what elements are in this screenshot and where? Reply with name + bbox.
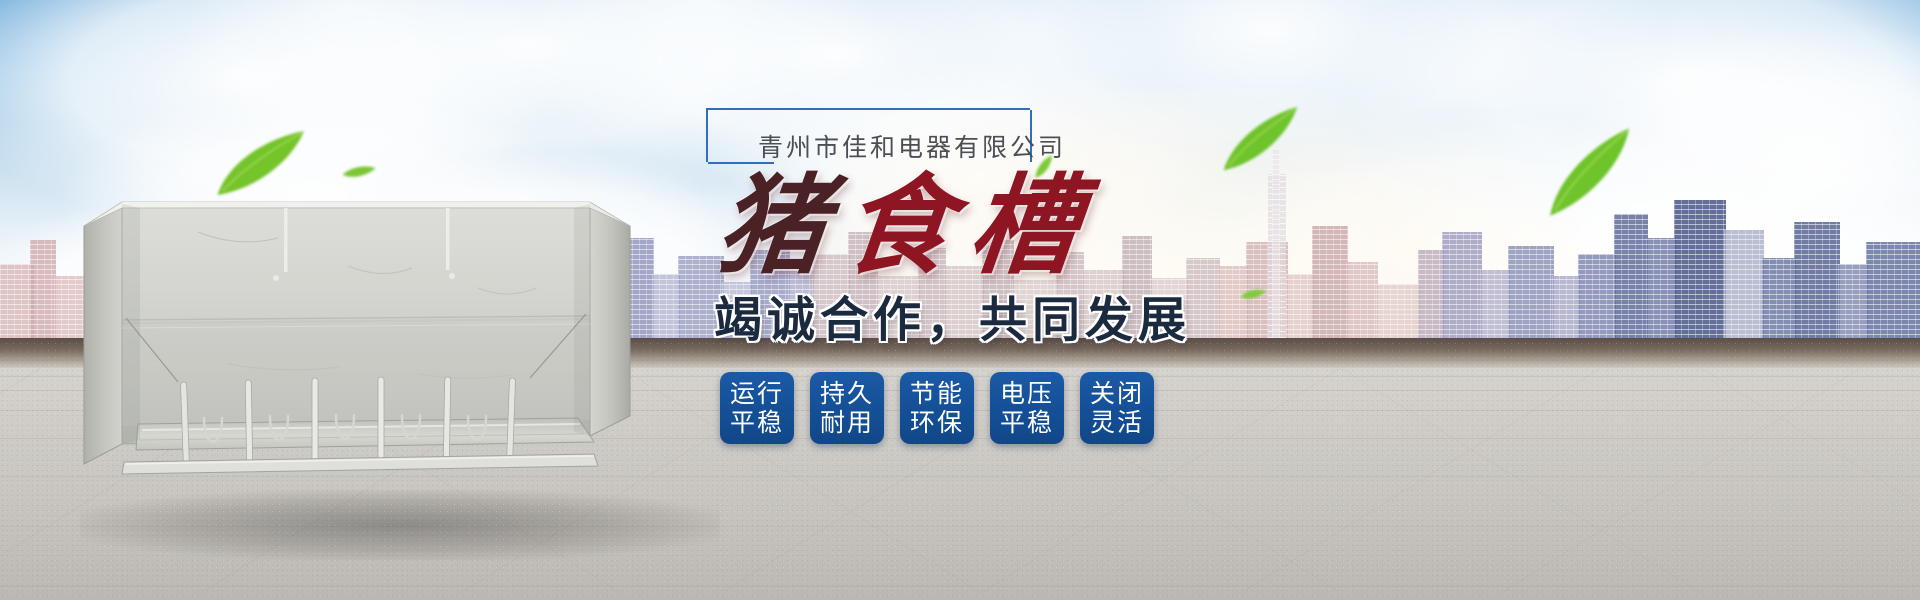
feature-badge-3[interactable]: 节能 环保 [900, 372, 974, 444]
promo-banner: 青州市佳和电器有限公司 猪食槽 竭诚合作，共同发展 运行 平稳 持久 耐用 节能… [0, 0, 1920, 600]
product-ground-shadow [80, 490, 720, 560]
feature-badge-2[interactable]: 持久 耐用 [810, 372, 884, 444]
trough-rear-rod [284, 208, 288, 272]
banner-text-block: 青州市佳和电器有限公司 猪食槽 竭诚合作，共同发展 运行 平稳 持久 耐用 节能… [700, 100, 1440, 560]
feature-badge-1-line1: 运行 [730, 379, 784, 409]
product-image-pig-feeding-trough [78, 168, 638, 488]
feature-badge-4-line1: 电压 [1000, 379, 1054, 409]
company-name: 青州市佳和电器有限公司 [758, 128, 1066, 164]
trough-rear-rod [446, 208, 450, 270]
trough-right-panel [590, 204, 630, 436]
feature-badge-3-line1: 节能 [910, 379, 964, 409]
product-title-char-1: 猪 [711, 163, 850, 289]
feature-badge-5[interactable]: 关闭 灵活 [1080, 372, 1154, 444]
feature-badge-2-line1: 持久 [820, 379, 874, 409]
product-title: 猪食槽 [712, 172, 1101, 280]
feature-badge-3-line2: 环保 [910, 408, 964, 438]
feature-badge-4-line2: 平稳 [1000, 408, 1054, 438]
banner-slogan: 竭诚合作，共同发展 [714, 296, 1191, 344]
feature-badge-list: 运行 平稳 持久 耐用 节能 环保 电压 平稳 关闭 灵活 [720, 372, 1154, 444]
product-title-char-2: 食 [837, 163, 976, 289]
feature-badge-5-line2: 灵活 [1090, 408, 1144, 438]
feature-badge-2-line2: 耐用 [820, 408, 874, 438]
trough-left-panel [84, 204, 122, 464]
product-title-char-3: 槽 [963, 163, 1102, 289]
feature-badge-1-line2: 平稳 [730, 408, 784, 438]
feature-badge-4[interactable]: 电压 平稳 [990, 372, 1064, 444]
feature-badge-1[interactable]: 运行 平稳 [720, 372, 794, 444]
feature-badge-5-line1: 关闭 [1090, 379, 1144, 409]
